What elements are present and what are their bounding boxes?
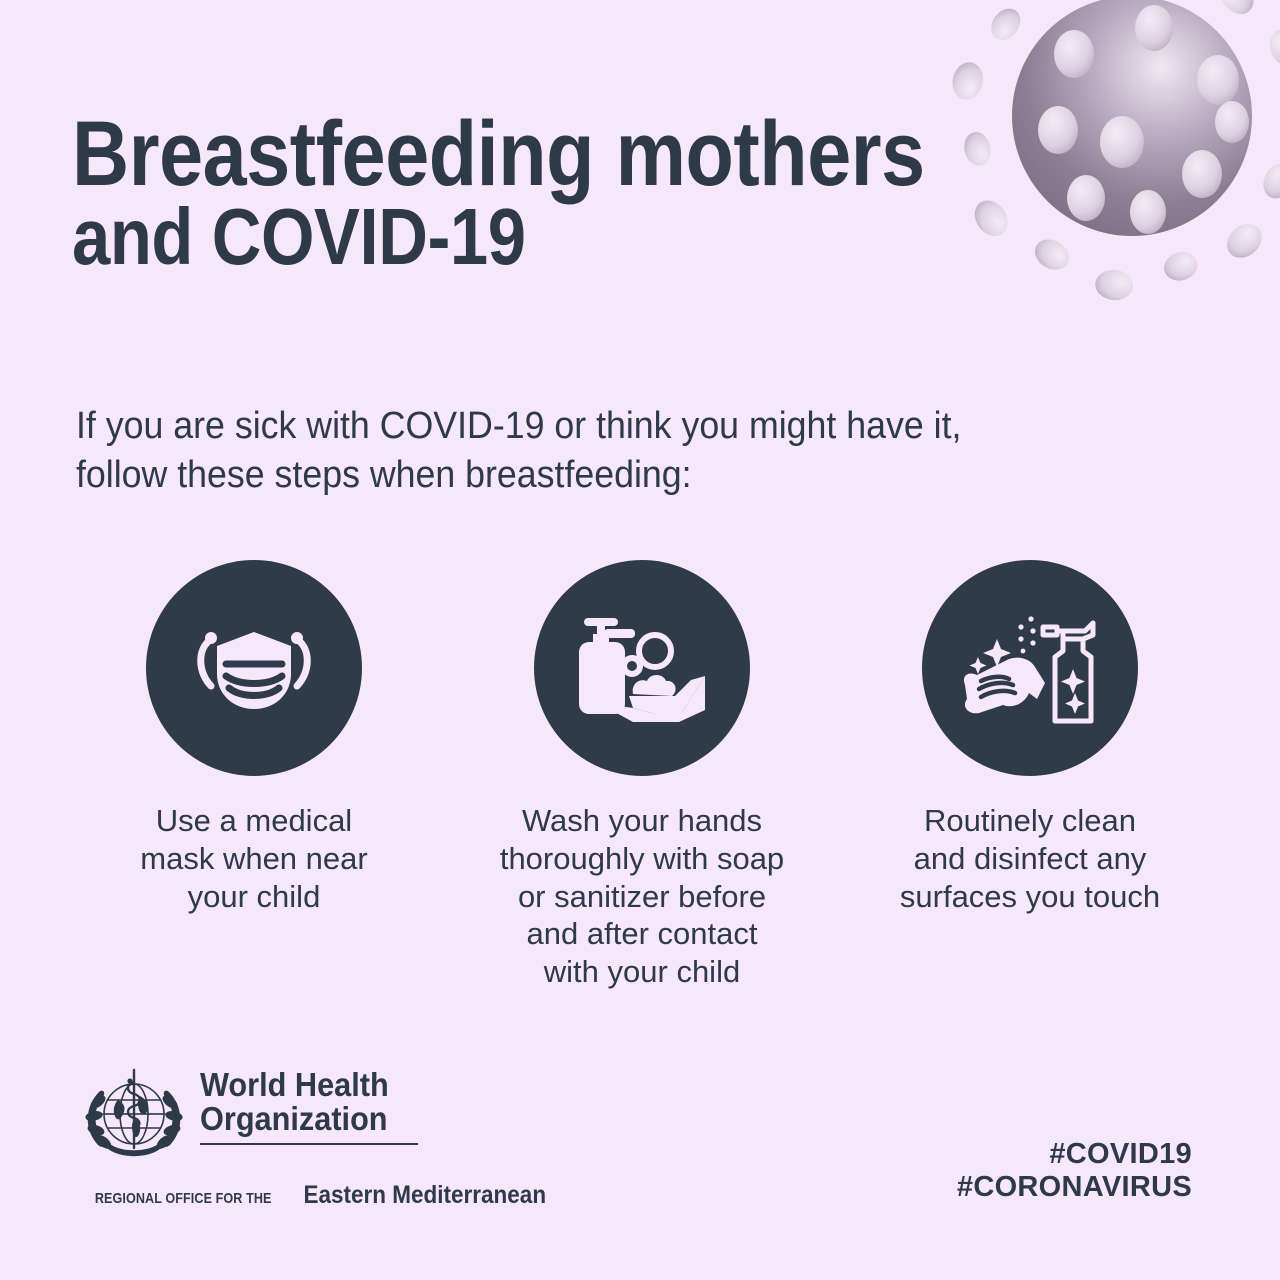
step-caption: Routinely clean and disinfect any surfac…	[900, 802, 1160, 915]
who-emblem-icon	[78, 1062, 190, 1174]
page-title: Breastfeeding mothers and COVID-19	[72, 112, 1052, 274]
step-icon-circle	[146, 560, 362, 776]
who-region-line: REGIONAL OFFICE FOR THE Eastern Mediterr…	[78, 1181, 428, 1210]
step-icon-circle	[534, 560, 750, 776]
hashtag-covid19: #COVID19	[957, 1138, 1192, 1171]
step-item-handwash: Wash your hands thoroughly with soap or …	[448, 560, 836, 991]
title-line-2: and COVID-19	[72, 200, 915, 274]
step-icon-circle	[922, 560, 1138, 776]
intro-text: If you are sick with COVID-19 or think y…	[76, 402, 1176, 499]
step-caption: Wash your hands thoroughly with soap or …	[500, 802, 784, 991]
hashtags: #COVID19 #CORONAVIRUS	[957, 1138, 1192, 1204]
who-wordmark-line-2: Organization	[200, 1102, 403, 1136]
who-wordmark-line-1: World Health	[200, 1068, 403, 1102]
handwash-soap-dispenser-icon	[571, 610, 713, 726]
who-divider	[200, 1143, 418, 1145]
step-item-disinfect: Routinely clean and disinfect any surfac…	[836, 560, 1224, 915]
who-logo: World Health Organization REGIONAL OFFIC…	[78, 1062, 428, 1210]
hashtag-coronavirus: #CORONAVIRUS	[957, 1171, 1192, 1204]
who-region-name: Eastern Mediterranean	[304, 1181, 547, 1210]
steps-row: Use a medical mask when near your child	[60, 560, 1224, 991]
medical-mask-icon	[187, 616, 321, 720]
step-item-mask: Use a medical mask when near your child	[60, 560, 448, 915]
spray-bottle-cleaning-icon	[959, 609, 1101, 727]
who-region-prefix: REGIONAL OFFICE FOR THE	[95, 1190, 272, 1207]
step-caption: Use a medical mask when near your child	[140, 802, 367, 915]
intro-line-2: follow these steps when breastfeeding:	[76, 451, 1110, 500]
intro-line-1: If you are sick with COVID-19 or think y…	[76, 402, 1110, 451]
poster-canvas: Breastfeeding mothers and COVID-19 If yo…	[0, 0, 1280, 1280]
title-line-1: Breastfeeding mothers	[72, 112, 915, 198]
